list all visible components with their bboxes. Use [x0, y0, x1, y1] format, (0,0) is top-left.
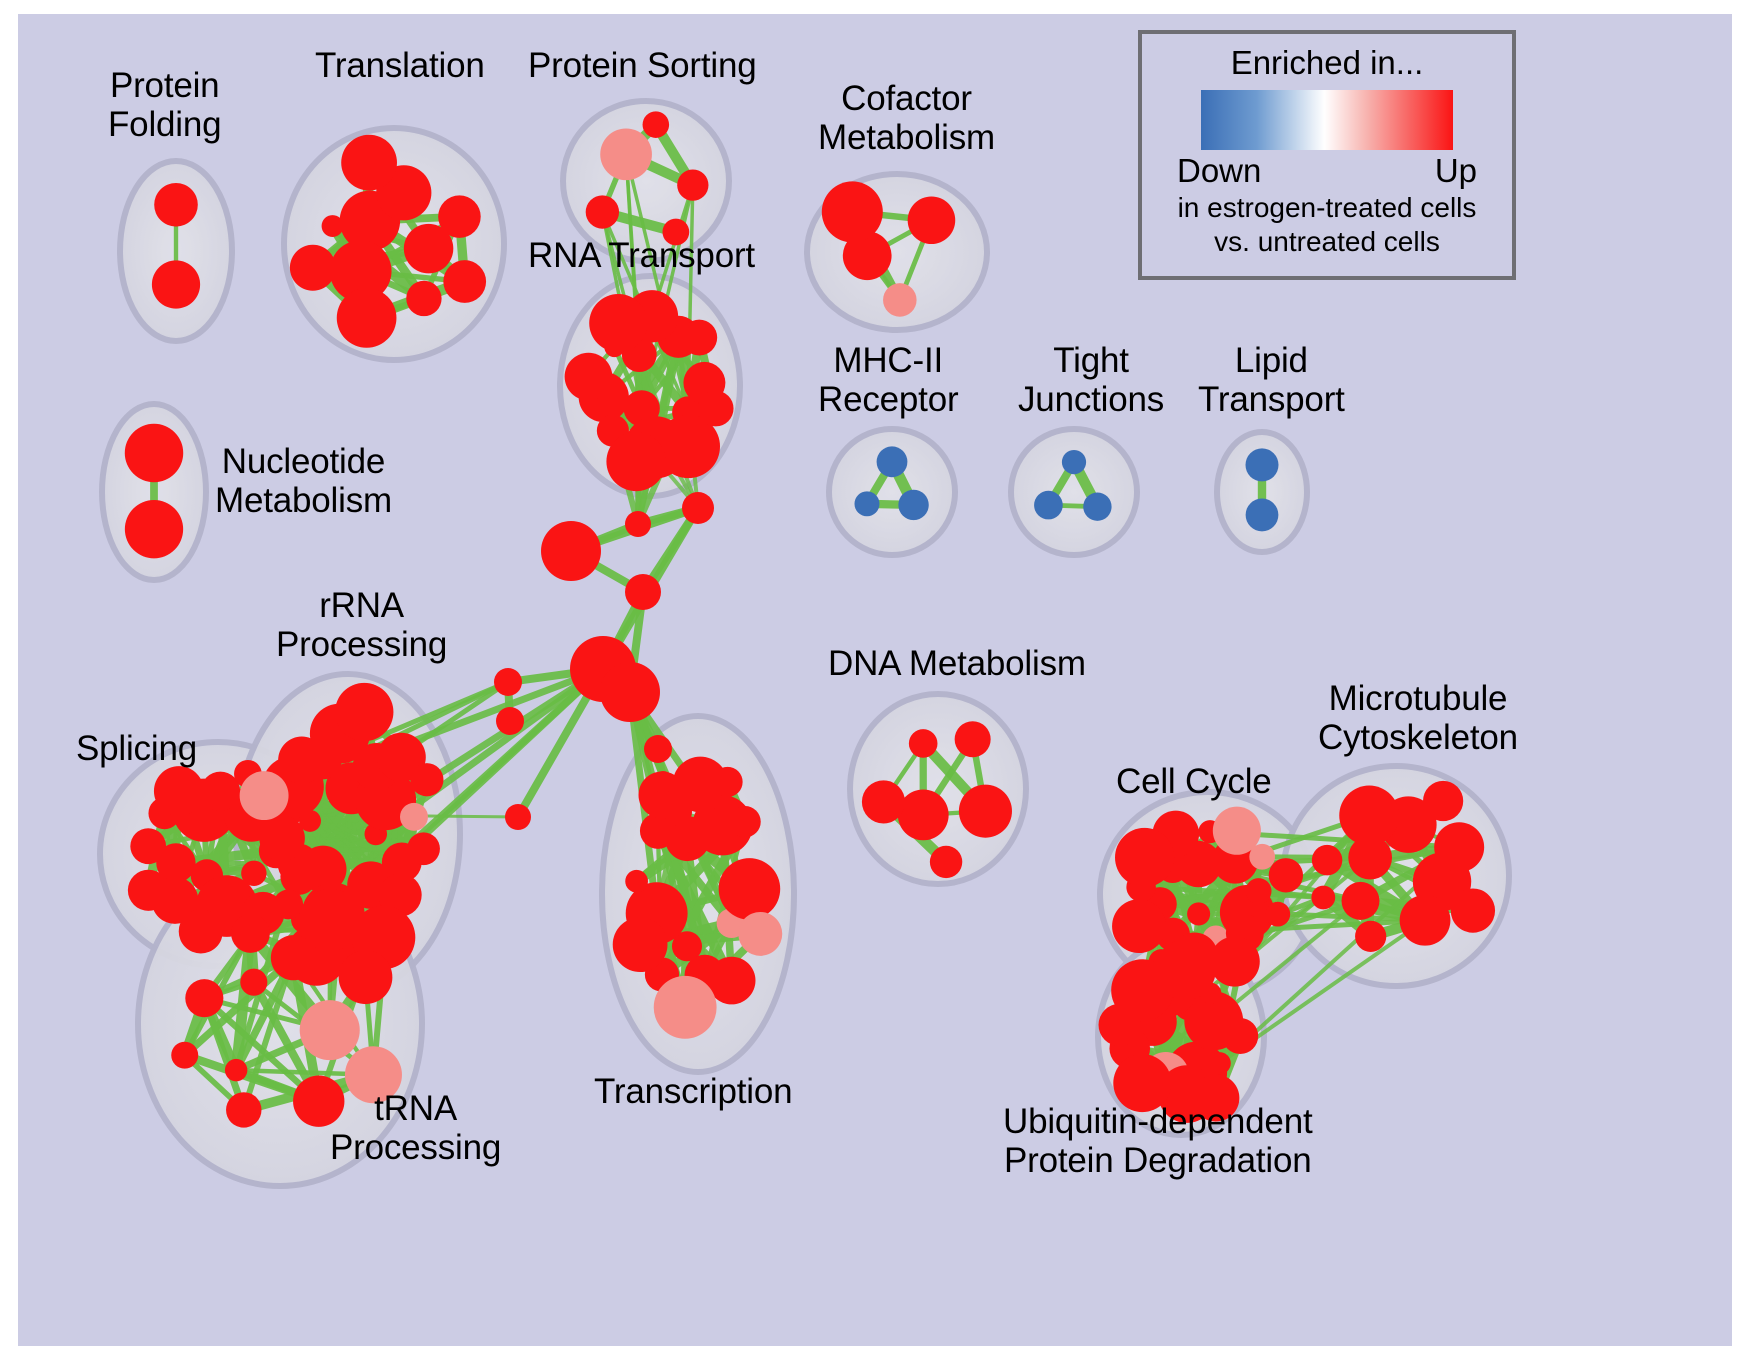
network-node[interactable] [1155, 939, 1215, 999]
cluster-label-microtubule: Microtubule Cytoskeleton [1318, 679, 1518, 757]
cluster-label-protein-folding: Protein Folding [108, 66, 221, 144]
network-node[interactable] [625, 574, 661, 610]
network-node[interactable] [643, 111, 670, 138]
network-node[interactable] [909, 729, 938, 758]
network-node[interactable] [443, 260, 486, 303]
network-node[interactable] [541, 521, 601, 581]
cluster-label-trna-processing: tRNA Processing [330, 1089, 501, 1167]
network-node[interactable] [171, 1042, 198, 1069]
network-node[interactable] [1339, 786, 1399, 846]
network-node[interactable] [664, 798, 692, 826]
cluster-label-rna-transport: RNA Transport [528, 236, 755, 275]
network-node[interactable] [600, 128, 652, 180]
network-node[interactable] [712, 767, 742, 797]
legend-title: Enriched in... [1231, 44, 1424, 82]
network-node[interactable] [1083, 493, 1111, 521]
network-node[interactable] [862, 780, 905, 823]
cluster-label-rrna-processing: rRNA Processing [276, 586, 447, 664]
network-node[interactable] [240, 969, 267, 996]
network-node[interactable] [1246, 499, 1279, 532]
network-node[interactable] [644, 735, 672, 763]
network-node[interactable] [154, 766, 204, 816]
network-node[interactable] [341, 135, 397, 191]
network-node[interactable] [1222, 1018, 1258, 1054]
network-node[interactable] [505, 804, 531, 830]
network-node[interactable] [154, 183, 198, 227]
network-node[interactable] [1265, 902, 1290, 927]
network-node[interactable] [1034, 491, 1063, 520]
network-node[interactable] [606, 432, 665, 491]
network-node[interactable] [185, 979, 223, 1017]
network-node[interactable] [1246, 878, 1272, 904]
cluster-label-cofactor-metabolism: Cofactor Metabolism [818, 79, 995, 157]
network-node[interactable] [589, 294, 647, 352]
network-node[interactable] [438, 195, 481, 238]
network-node[interactable] [908, 196, 956, 244]
cluster-label-mhc-ii-receptor: MHC-II Receptor [818, 341, 958, 419]
network-node[interactable] [300, 1000, 360, 1060]
network-node[interactable] [400, 803, 428, 831]
network-node[interactable] [406, 281, 441, 316]
network-node[interactable] [339, 950, 393, 1004]
network-node[interactable] [1245, 448, 1278, 481]
network-node[interactable] [240, 771, 289, 820]
network-node[interactable] [337, 288, 397, 348]
network-node[interactable] [410, 763, 443, 796]
legend-end-labels: Down Up [1177, 152, 1477, 190]
legend-box: Enriched in... Down Up in estrogen-treat… [1138, 30, 1516, 280]
network-node[interactable] [259, 816, 305, 862]
network-node[interactable] [125, 500, 183, 558]
cluster-label-ubiquitin: Ubiquitin-dependent Protein Degradation [1003, 1102, 1313, 1180]
network-node[interactable] [496, 707, 524, 735]
cluster-label-tight-junctions: Tight Junctions [1018, 341, 1164, 419]
cluster-label-protein-sorting: Protein Sorting [528, 46, 757, 85]
network-node[interactable] [729, 806, 760, 837]
network-node[interactable] [1423, 781, 1463, 821]
network-node[interactable] [930, 846, 962, 878]
network-node[interactable] [1269, 858, 1303, 892]
network-node[interactable] [822, 181, 883, 242]
network-node[interactable] [201, 772, 240, 811]
network-node[interactable] [1434, 822, 1484, 872]
network-node[interactable] [130, 828, 166, 864]
network-node[interactable] [152, 260, 200, 308]
network-node[interactable] [1210, 936, 1260, 986]
network-node[interactable] [898, 789, 949, 840]
network-node[interactable] [959, 785, 1012, 838]
network-node[interactable] [1062, 450, 1086, 474]
network-node[interactable] [494, 668, 522, 696]
network-node[interactable] [877, 446, 908, 477]
network-node[interactable] [738, 912, 782, 956]
network-node[interactable] [125, 424, 183, 482]
network-node[interactable] [1099, 1004, 1141, 1046]
network-node[interactable] [225, 1059, 247, 1081]
network-canvas: Protein Folding Translation Protein Sort… [18, 14, 1732, 1346]
network-node[interactable] [273, 890, 303, 920]
network-node[interactable] [1312, 845, 1342, 875]
network-node[interactable] [1112, 899, 1166, 953]
network-node[interactable] [322, 215, 344, 237]
network-node[interactable] [1400, 895, 1451, 946]
network-node[interactable] [1115, 828, 1174, 887]
network-node[interactable] [719, 858, 781, 920]
network-node[interactable] [226, 1092, 261, 1127]
network-node[interactable] [1213, 807, 1261, 855]
network-node[interactable] [231, 914, 270, 953]
network-node[interactable] [625, 870, 648, 893]
network-node[interactable] [652, 771, 674, 793]
network-node[interactable] [708, 957, 756, 1005]
network-node[interactable] [654, 976, 717, 1039]
figure-root: Protein Folding Translation Protein Sort… [0, 0, 1750, 1360]
cluster-label-transcription: Transcription [594, 1072, 792, 1111]
cluster-label-splicing: Splicing [76, 729, 197, 768]
cluster-label-lipid-transport: Lipid Transport [1198, 341, 1345, 419]
legend-caption-line2: vs. untreated cells [1214, 226, 1440, 258]
network-node[interactable] [299, 889, 361, 951]
cluster-label-cell-cycle: Cell Cycle [1116, 762, 1272, 801]
legend-low-label: Down [1177, 152, 1261, 190]
network-node[interactable] [698, 391, 734, 427]
network-node[interactable] [855, 491, 880, 516]
network-node[interactable] [179, 909, 223, 953]
network-node[interactable] [1451, 888, 1495, 932]
network-node[interactable] [600, 662, 660, 722]
network-node[interactable] [955, 721, 991, 757]
network-node[interactable] [613, 917, 668, 972]
network-node[interactable] [1311, 886, 1335, 910]
network-node[interactable] [1355, 921, 1386, 952]
network-node[interactable] [1187, 902, 1210, 925]
network-node[interactable] [625, 511, 651, 537]
legend-caption-line1: in estrogen-treated cells [1178, 192, 1477, 224]
network-node[interactable] [1342, 882, 1380, 920]
network-node[interactable] [677, 169, 708, 200]
network-node[interactable] [898, 490, 928, 520]
network-node[interactable] [1209, 1052, 1231, 1074]
network-node[interactable] [565, 353, 613, 401]
cluster-hull-tight-junctions [1011, 429, 1137, 555]
network-node[interactable] [407, 832, 440, 865]
network-node[interactable] [682, 492, 714, 524]
network-node[interactable] [681, 320, 717, 356]
cluster-label-nucleotide-metabolism: Nucleotide Metabolism [215, 442, 392, 520]
network-node[interactable] [128, 870, 169, 911]
network-node[interactable] [586, 195, 619, 228]
network-node[interactable] [883, 283, 917, 317]
cluster-label-dna-metabolism: DNA Metabolism [828, 644, 1086, 683]
cluster-label-translation: Translation [315, 46, 485, 85]
network-node[interactable] [278, 737, 325, 784]
network-node[interactable] [290, 245, 336, 291]
legend-high-label: Up [1435, 152, 1477, 190]
network-node[interactable] [335, 683, 393, 741]
legend-color-gradient [1201, 90, 1453, 150]
